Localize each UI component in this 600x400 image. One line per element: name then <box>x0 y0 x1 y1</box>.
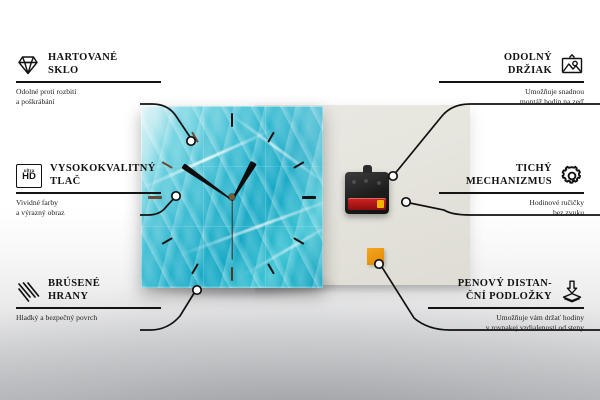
feature-desc-line1: Hodinové ručičky <box>439 198 584 208</box>
feature-heading: ODOLNÝ DRŽIAK <box>439 52 584 77</box>
feature-high-quality-print: ultra HD VYSOKOKVALITNÝ TLAČ Vividné far… <box>16 163 161 218</box>
callout-dot-edges <box>193 286 201 294</box>
callout-dot-print <box>172 192 180 200</box>
feature-title-line2: DRŽIAK <box>504 65 552 78</box>
feature-divider <box>439 192 584 194</box>
feature-title-line2: MECHANIZMUS <box>466 176 552 189</box>
callout-dot-mechanism <box>402 198 410 206</box>
feature-title-line1: HARTOVANÉ <box>48 52 118 65</box>
feature-desc-line1: Odolné proti rozbití <box>16 87 161 97</box>
feature-title-line2: SKLO <box>48 65 118 78</box>
feature-title-line1: PENOVÝ DISTAN- <box>458 278 552 291</box>
callout-dot-glass <box>187 137 195 145</box>
feature-tempered-glass: HARTOVANÉ SKLO Odolné proti rozbití a po… <box>16 52 161 107</box>
feature-title-line1: BRÚSENÉ <box>48 278 100 291</box>
feature-durable-hanger: ODOLNÝ DRŽIAK Umožňuje snadnou montáž ho… <box>439 52 584 107</box>
ultra-hd-icon-large-text: HD <box>22 172 36 182</box>
feature-beveled-edges: BRÚSENÉ HRANY Hladký a bezpečný povrch <box>16 278 161 323</box>
feature-heading: PENOVÝ DISTAN- ČNÍ PODLOŽKY <box>428 278 584 303</box>
feature-title-line1: ODOLNÝ <box>504 52 552 65</box>
feature-divider <box>16 81 161 83</box>
ultra-hd-icon: ultra HD <box>16 164 42 188</box>
feature-foam-spacers: PENOVÝ DISTAN- ČNÍ PODLOŽKY Umožňuje vám… <box>428 278 584 333</box>
foam-spacer-icon <box>560 279 584 303</box>
gear-icon <box>560 164 584 188</box>
feature-desc-line2: v rovnakej vzdialenosti od steny <box>428 323 584 333</box>
feature-heading: HARTOVANÉ SKLO <box>16 52 161 77</box>
feature-heading: BRÚSENÉ HRANY <box>16 278 161 303</box>
callout-dot-hanger <box>389 172 397 180</box>
feature-desc-line1: Hladký a bezpečný povrch <box>16 313 161 323</box>
feature-desc-line1: Vividné farby <box>16 198 161 208</box>
feature-title-line2: HRANY <box>48 291 100 304</box>
feature-title-line2: ČNÍ PODLOŽKY <box>458 291 552 304</box>
diamond-icon <box>16 53 40 77</box>
feature-divider <box>16 307 161 309</box>
infographic-canvas: HARTOVANÉ SKLO Odolné proti rozbití a po… <box>0 0 600 400</box>
feature-divider <box>16 192 161 194</box>
feature-desc-line2: a poškrábání <box>16 97 161 107</box>
feature-title-line1: TICHÝ <box>466 163 552 176</box>
feature-silent-mechanism: TICHÝ MECHANIZMUS Hodinové ručičky bez z… <box>439 163 584 218</box>
feature-divider <box>439 81 584 83</box>
feature-divider <box>428 307 584 309</box>
feature-desc-line2: bez zvuku <box>439 208 584 218</box>
feature-desc-line1: Umožňuje vám držať hodiny <box>428 313 584 323</box>
feature-desc-line1: Umožňuje snadnou <box>439 87 584 97</box>
beveled-edges-icon <box>16 279 40 303</box>
picture-hanger-icon <box>560 53 584 77</box>
callout-dot-foam <box>375 260 383 268</box>
feature-heading: ultra HD VYSOKOKVALITNÝ TLAČ <box>16 163 161 188</box>
feature-heading: TICHÝ MECHANIZMUS <box>439 163 584 188</box>
feature-desc-line2: a výrazný obraz <box>16 208 161 218</box>
feature-title-line1: VYSOKOKVALITNÝ <box>50 163 156 176</box>
feature-title-line2: TLAČ <box>50 176 156 189</box>
feature-desc-line2: montáž hodin na zeď <box>439 97 584 107</box>
